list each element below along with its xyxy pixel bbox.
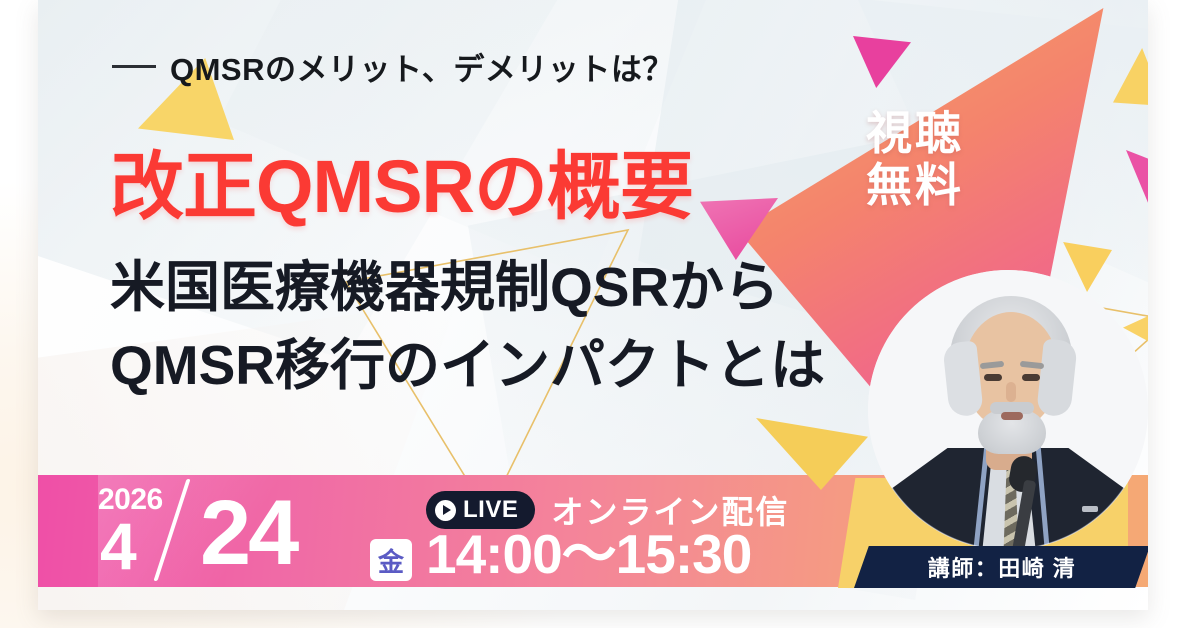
day-of-week-badge: 金	[370, 539, 412, 581]
portrait-eye	[984, 374, 1002, 381]
subtitle-line-1: 米国医療機器規制QSRから	[110, 260, 779, 315]
free-badge-line-1: 視聴	[825, 108, 1005, 160]
free-viewing-badge: 視聴 無料	[825, 108, 1005, 211]
page-title: 改正QMSRの概要	[110, 150, 693, 224]
eyebrow-label: QMSRのメリット、デメリットは？	[170, 44, 674, 89]
event-time: 14:00〜15:30	[426, 527, 751, 582]
portrait-eye	[1022, 374, 1040, 381]
lapel-pin	[1082, 506, 1098, 512]
banner-card: 視聴 無料 QMSRのメリット、デメリットは？ 改正QMSRの概要 米国医療機器…	[38, 0, 1148, 610]
speaker-name-badge: 講師：田崎 清	[854, 546, 1148, 588]
dash-icon	[112, 65, 156, 68]
free-badge-line-2: 無料	[825, 160, 1005, 212]
day-of-week-label: 金	[378, 542, 404, 579]
live-label: LIVE	[463, 496, 518, 524]
play-icon	[435, 500, 456, 521]
event-month: 4	[100, 513, 137, 579]
portrait-mouth	[1001, 412, 1023, 420]
eyebrow-text: QMSRのメリット、デメリットは？	[112, 44, 674, 89]
event-day: 24	[200, 487, 296, 579]
portrait-nose	[1006, 382, 1016, 402]
speaker-name-label: 講師：田崎 清	[928, 551, 1077, 583]
speaker-portrait	[868, 270, 1148, 580]
portrait-hair-side	[1036, 338, 1078, 417]
speaker-block: 講師：田崎 清	[858, 270, 1148, 590]
webinar-banner: 視聴 無料 QMSRのメリット、デメリットは？ 改正QMSRの概要 米国医療機器…	[0, 0, 1200, 628]
subtitle-line-2: QMSR移行のインパクトとは	[110, 338, 825, 393]
